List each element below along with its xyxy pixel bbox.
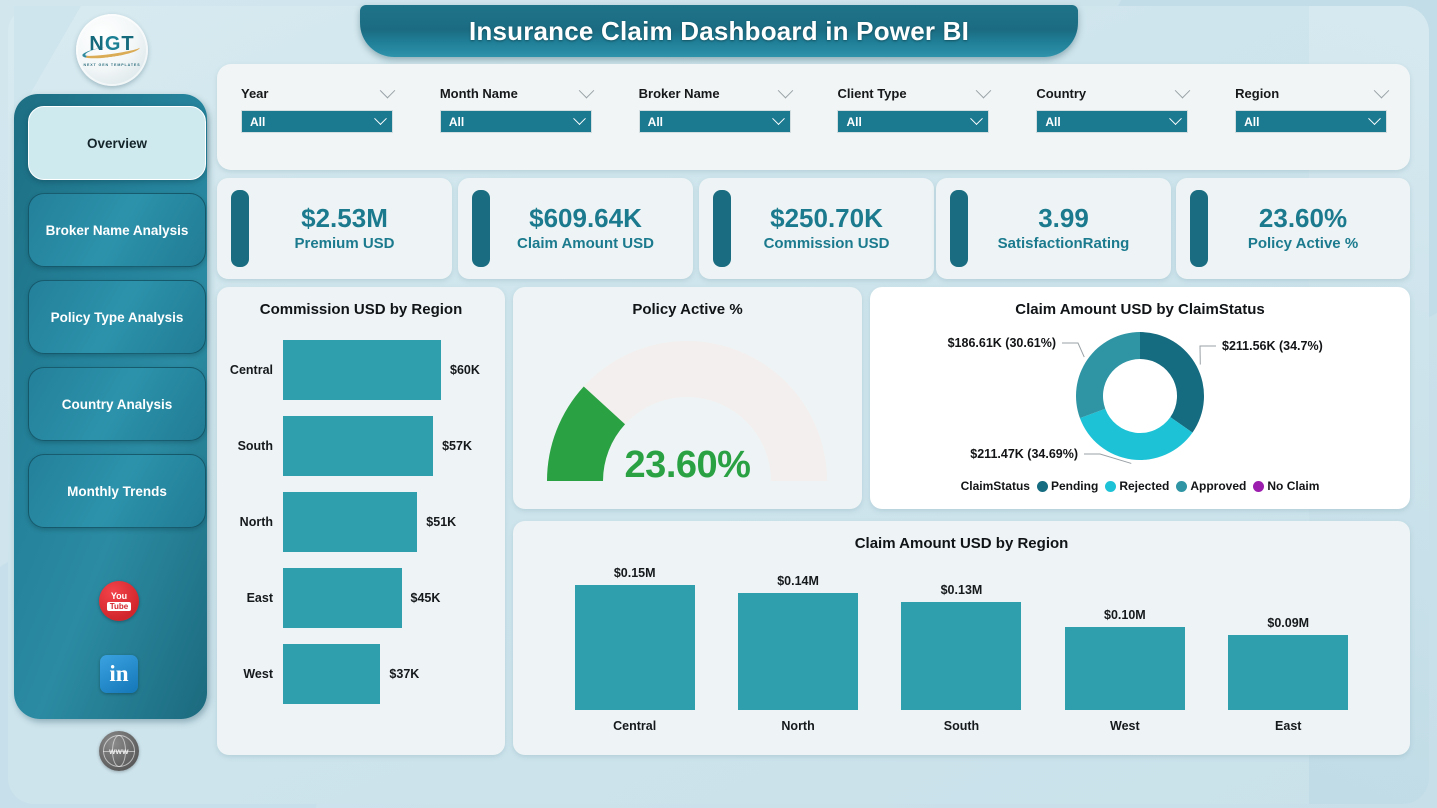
column-bars: $0.15M$0.14M$0.13M$0.10M$0.09M (513, 558, 1410, 710)
slicer-header: Country (1036, 86, 1188, 101)
slicer-value: All (1045, 115, 1060, 129)
chevron-down-icon (971, 112, 984, 125)
slicer-label: Month Name (440, 86, 518, 101)
chart-title: Commission USD by Region (217, 287, 505, 318)
slicer-year: Year All (217, 64, 416, 170)
column-value-label: $0.14M (777, 574, 819, 588)
linkedin-link[interactable]: in (97, 652, 141, 696)
slicer-dropdown[interactable]: All (1036, 110, 1188, 133)
linkedin-icon: in (100, 655, 138, 693)
legend-item-pending[interactable]: Pending (1037, 479, 1098, 493)
kpi-accent-bar (472, 190, 490, 267)
legend-label: No Claim (1267, 479, 1319, 493)
kpi-value: $2.53M (249, 205, 440, 232)
sidebar-item-country-analysis[interactable]: Country Analysis (28, 367, 206, 441)
slicer-value: All (1244, 115, 1259, 129)
column-category-label: Central (575, 719, 695, 733)
kpi-text: 3.99 SatisfactionRating (968, 205, 1171, 252)
kpi-card-claim-amount-usd[interactable]: $609.64K Claim Amount USD (458, 178, 693, 279)
page-title: Insurance Claim Dashboard in Power BI (469, 16, 969, 47)
bar-value-label: $57K (442, 439, 472, 453)
kpi-label: Premium USD (249, 235, 440, 252)
column-item[interactable]: $0.09M (1228, 616, 1348, 710)
bar-value-label: $51K (426, 515, 456, 529)
chevron-down-icon[interactable] (1374, 83, 1390, 99)
chevron-down-icon[interactable] (579, 83, 595, 99)
youtube-icon-line2: Tube (107, 602, 132, 611)
chart-title: Claim Amount USD by Region (513, 521, 1410, 552)
slicer-label: Client Type (837, 86, 906, 101)
donut-leader-line (1200, 346, 1216, 365)
chevron-down-icon[interactable] (1175, 83, 1191, 99)
dashboard-header: Insurance Claim Dashboard in Power BI (360, 5, 1078, 57)
legend-swatch-icon (1253, 481, 1264, 492)
column-item[interactable]: $0.10M (1065, 608, 1185, 710)
legend-label: Approved (1190, 479, 1246, 493)
sidebar-item-label: Overview (87, 136, 147, 151)
kpi-value: 3.99 (968, 205, 1159, 232)
column-item[interactable]: $0.15M (575, 566, 695, 710)
slicer-dropdown[interactable]: All (639, 110, 791, 133)
bar-category-label: South (217, 439, 283, 453)
sidebar: NGT NEXT GEN TEMPLATES Overview Broker N… (14, 6, 207, 737)
chart-claim-amount-by-claimstatus[interactable]: Claim Amount USD by ClaimStatus $211.56K… (870, 287, 1410, 509)
bar-category-label: North (217, 515, 283, 529)
column-category-label: West (1065, 719, 1185, 733)
donut-slice-label: $211.47K (34.69%) (970, 447, 1078, 461)
column-item[interactable]: $0.13M (901, 583, 1021, 710)
donut-wrap: $211.56K (34.7%)$211.47K (34.69%)$186.61… (870, 318, 1410, 478)
kpi-text: $2.53M Premium USD (249, 205, 452, 252)
website-link[interactable]: www (97, 729, 141, 773)
bar[interactable] (283, 416, 433, 476)
kpi-value: $609.64K (490, 205, 681, 232)
bar-value-label: $60K (450, 363, 480, 377)
column-bar[interactable] (738, 593, 858, 710)
bar-row[interactable]: South$57K (217, 416, 505, 476)
kpi-label: Claim Amount USD (490, 235, 681, 252)
bar[interactable] (283, 644, 380, 704)
kpi-card-policy-active-pct[interactable]: 23.60% Policy Active % (1176, 178, 1410, 279)
chart-title: Policy Active % (513, 287, 862, 318)
slicer-month-name: Month Name All (416, 64, 615, 170)
chevron-down-icon[interactable] (380, 83, 396, 99)
column-value-label: $0.09M (1267, 616, 1309, 630)
slicer-label: Country (1036, 86, 1086, 101)
bar-value-label: $37K (389, 667, 419, 681)
chevron-down-icon (573, 112, 586, 125)
bar-category-label: Central (217, 363, 283, 377)
bar-value-label: $45K (411, 591, 441, 605)
chart-title: Claim Amount USD by ClaimStatus (870, 287, 1410, 318)
kpi-value: $250.70K (731, 205, 922, 232)
slicer-header: Client Type (837, 86, 989, 101)
legend-swatch-icon (1105, 481, 1116, 492)
legend-swatch-icon (1176, 481, 1187, 492)
kpi-label: SatisfactionRating (968, 235, 1159, 252)
website-icon: www (99, 731, 139, 771)
slicer-bar: Year All Month Name All Broker Name (217, 64, 1410, 170)
chevron-down-icon (1368, 112, 1381, 125)
slicer-header: Year (241, 86, 393, 101)
bar-row[interactable]: West$37K (217, 644, 505, 704)
kpi-label: Policy Active % (1208, 235, 1398, 252)
column-category-label: North (738, 719, 858, 733)
sidebar-item-overview[interactable]: Overview (28, 106, 206, 180)
bar-row[interactable]: Central$60K (217, 340, 505, 400)
kpi-text: 23.60% Policy Active % (1208, 205, 1410, 252)
sidebar-item-label: Policy Type Analysis (51, 310, 184, 325)
slicer-region: Region All (1211, 64, 1410, 170)
kpi-text: $609.64K Claim Amount USD (490, 205, 693, 252)
chart-commission-usd-by-region[interactable]: Commission USD by Region Central$60KSout… (217, 287, 505, 755)
legend-item-rejected[interactable]: Rejected (1105, 479, 1169, 493)
slicer-country: Country All (1012, 64, 1211, 170)
chevron-down-icon (1169, 112, 1182, 125)
donut-leader-line (1062, 343, 1084, 357)
column-axis-labels: CentralNorthSouthWestEast (513, 719, 1410, 733)
chart-claim-amount-usd-by-region[interactable]: Claim Amount USD by Region $0.15M$0.14M$… (513, 521, 1410, 755)
donut-slice-label: $211.56K (34.7%) (1222, 339, 1323, 353)
column-value-label: $0.10M (1104, 608, 1146, 622)
legend-label: Pending (1051, 479, 1098, 493)
youtube-icon-line1: You (111, 592, 127, 601)
bar[interactable] (283, 340, 441, 400)
logo-tagline: NEXT GEN TEMPLATES (83, 63, 140, 67)
ngt-logo: NGT NEXT GEN TEMPLATES (76, 14, 148, 86)
slicer-label: Broker Name (639, 86, 720, 101)
slicer-value: All (648, 115, 663, 129)
bar-category-label: West (217, 667, 283, 681)
bar[interactable] (283, 492, 417, 552)
column-bar[interactable] (901, 602, 1021, 710)
donut-slice-label: $186.61K (30.61%) (948, 336, 1056, 350)
sidebar-item-label: Country Analysis (62, 397, 173, 412)
sidebar-item-policy-type-analysis[interactable]: Policy Type Analysis (28, 280, 206, 354)
legend-title: ClaimStatus (961, 479, 1030, 493)
kpi-card-satisfaction-rating[interactable]: 3.99 SatisfactionRating (936, 178, 1171, 279)
column-value-label: $0.13M (941, 583, 983, 597)
legend-item-no-claim[interactable]: No Claim (1253, 479, 1319, 493)
legend-swatch-icon (1037, 481, 1048, 492)
gauge-wrap: 23.60% (513, 318, 862, 494)
column-category-label: East (1228, 719, 1348, 733)
slicer-header: Broker Name (639, 86, 791, 101)
slicer-value: All (250, 115, 265, 129)
kpi-accent-bar (713, 190, 731, 267)
gauge-value-label: 23.60% (513, 444, 862, 487)
kpi-accent-bar (1190, 190, 1208, 267)
kpi-card-premium-usd[interactable]: $2.53M Premium USD (217, 178, 452, 279)
donut-svg: $211.56K (34.7%)$211.47K (34.69%)$186.61… (870, 318, 1410, 478)
slicer-label: Region (1235, 86, 1279, 101)
legend-item-approved[interactable]: Approved (1176, 479, 1246, 493)
slicer-value: All (846, 115, 861, 129)
column-value-label: $0.15M (614, 566, 656, 580)
bar-category-label: East (217, 591, 283, 605)
youtube-link[interactable]: You Tube (97, 579, 141, 623)
column-bar[interactable] (1065, 627, 1185, 710)
kpi-label: Commission USD (731, 235, 922, 252)
bar-row[interactable]: East$45K (217, 568, 505, 628)
donut-legend: ClaimStatusPendingRejectedApprovedNo Cla… (870, 479, 1410, 493)
youtube-icon: You Tube (99, 581, 139, 621)
kpi-text: $250.70K Commission USD (731, 205, 934, 252)
slicer-value: All (449, 115, 464, 129)
donut-slice-approved[interactable] (1076, 332, 1140, 418)
chart-policy-active-gauge[interactable]: Policy Active % 23.60% (513, 287, 862, 509)
kpi-accent-bar (231, 190, 249, 267)
sidebar-item-label: Broker Name Analysis (46, 223, 189, 238)
column-bar[interactable] (1228, 635, 1348, 710)
slicer-broker-name: Broker Name All (615, 64, 814, 170)
column-category-label: South (901, 719, 1021, 733)
chevron-down-icon[interactable] (777, 83, 793, 99)
slicer-dropdown[interactable]: All (440, 110, 592, 133)
donut-slice-pending[interactable] (1140, 332, 1204, 433)
sidebar-item-broker-name-analysis[interactable]: Broker Name Analysis (28, 193, 206, 267)
kpi-value: 23.60% (1208, 205, 1398, 232)
dashboard-canvas: NGT NEXT GEN TEMPLATES Overview Broker N… (0, 0, 1437, 808)
slicer-dropdown[interactable]: All (837, 110, 989, 133)
bar-row[interactable]: North$51K (217, 492, 505, 552)
slicer-header: Month Name (440, 86, 592, 101)
chevron-down-icon[interactable] (976, 83, 992, 99)
kpi-accent-bar (950, 190, 968, 267)
chevron-down-icon (374, 112, 387, 125)
slicer-header: Region (1235, 86, 1387, 101)
bar[interactable] (283, 568, 402, 628)
slicer-dropdown[interactable]: All (241, 110, 393, 133)
slicer-client-type: Client Type All (813, 64, 1012, 170)
column-item[interactable]: $0.14M (738, 574, 858, 710)
sidebar-item-monthly-trends[interactable]: Monthly Trends (28, 454, 206, 528)
chevron-down-icon (772, 112, 785, 125)
kpi-card-commission-usd[interactable]: $250.70K Commission USD (699, 178, 934, 279)
website-icon-label: www (109, 747, 129, 756)
slicer-dropdown[interactable]: All (1235, 110, 1387, 133)
horizontal-bar-rows: Central$60KSouth$57KNorth$51KEast$45KWes… (217, 318, 505, 704)
column-bar[interactable] (575, 585, 695, 710)
legend-label: Rejected (1119, 479, 1169, 493)
sidebar-item-label: Monthly Trends (67, 484, 167, 499)
slicer-label: Year (241, 86, 268, 101)
